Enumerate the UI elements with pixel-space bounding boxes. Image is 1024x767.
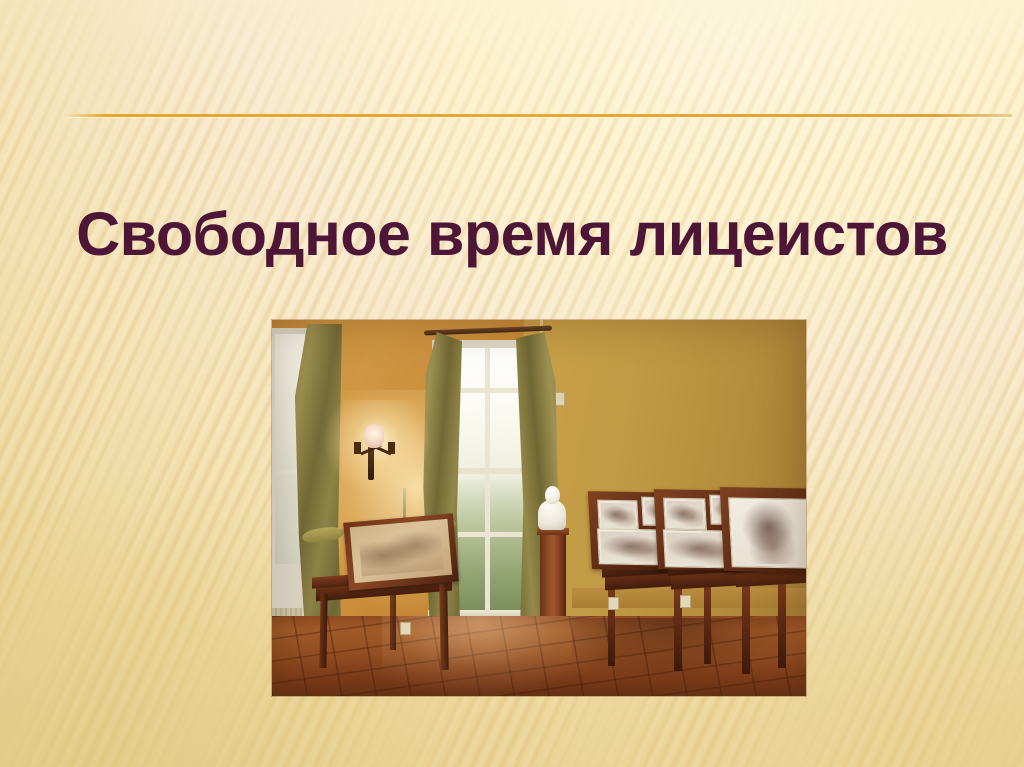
gold-divider-rule xyxy=(68,114,1012,117)
wall-socket-3 xyxy=(680,595,691,608)
presentation-slide: Свободное время лицеистов xyxy=(0,0,1024,767)
display-table-1-leg-right xyxy=(704,580,711,664)
sconce-candle-cup-left xyxy=(354,442,361,454)
wall-socket-1 xyxy=(400,622,411,635)
marble-bust-head xyxy=(545,486,560,504)
writing-table-leg-right xyxy=(439,584,448,670)
print-2a xyxy=(663,498,707,531)
display-table-3-leg-left xyxy=(742,582,750,674)
marble-bust-body xyxy=(538,500,566,530)
framed-drawing-left xyxy=(350,519,453,583)
sconce-candle-cup-right xyxy=(388,442,395,454)
print-3a xyxy=(728,497,806,568)
room-photograph xyxy=(272,320,806,696)
writing-table-leg-left xyxy=(319,594,327,668)
wall-socket-2 xyxy=(608,597,619,610)
writing-table-leg-rear xyxy=(390,588,396,650)
print-1a xyxy=(597,500,639,531)
display-table-2-leg-right xyxy=(778,578,786,668)
slide-title: Свободное время лицеистов xyxy=(0,204,1024,265)
sconce-lamp-shade xyxy=(364,424,384,448)
